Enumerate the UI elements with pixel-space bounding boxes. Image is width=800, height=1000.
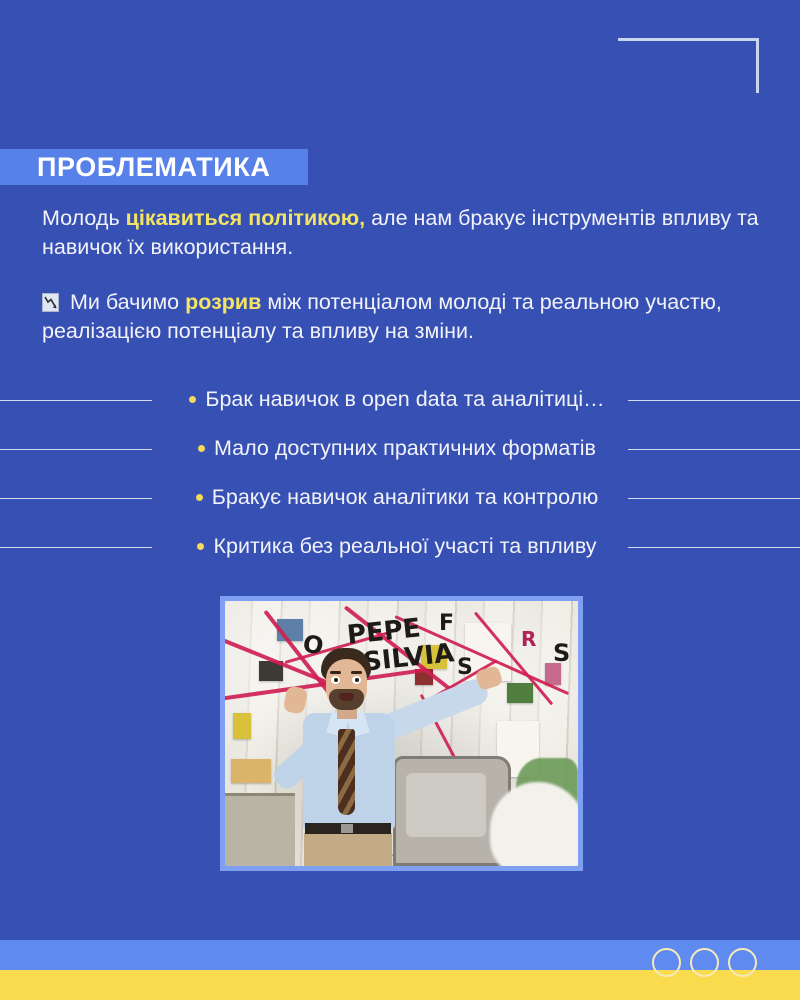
chart-decreasing-icon [42, 293, 59, 312]
bullet-rule-left [0, 400, 152, 402]
bullet-rule-right [628, 400, 800, 402]
footer-ring-icon [652, 948, 681, 977]
wall-scribble: F [439, 613, 454, 635]
footer-ring-icon [690, 948, 719, 977]
bullet-rule-right [628, 449, 800, 451]
bullet-rule-left [0, 498, 152, 500]
paragraph-2-highlight: розрив [185, 290, 261, 314]
footer-ring-group [652, 948, 757, 977]
body-text-block: Молодь цікавиться політикою, але нам бра… [42, 204, 764, 345]
wall-note [233, 713, 251, 739]
wall-scribble: R [521, 629, 536, 649]
paragraph-1-highlight: цікавиться політикою, [126, 206, 365, 230]
corner-bracket-decor [618, 38, 759, 93]
wall-note [231, 759, 271, 783]
paragraph-2: Ми бачимо розрив між потенціалом молоді … [42, 288, 764, 345]
paragraph-1: Молодь цікавиться політикою, але нам бра… [42, 204, 764, 261]
bullet-dot-icon [198, 445, 205, 452]
bullet-rule-left [0, 449, 152, 451]
wall-scribble: O [301, 631, 325, 658]
list-item[interactable]: Критика без реальної участі та впливу [0, 522, 800, 571]
bullet-rule-left [0, 547, 152, 549]
bullet-rule-right [628, 498, 800, 500]
list-item[interactable]: Брак навичок в open data та аналітиці… [0, 375, 800, 424]
wall-note [507, 683, 533, 703]
list-item-label: Критика без реальної участі та впливу [213, 534, 602, 559]
wall-scribble: S [457, 657, 473, 679]
wall-scribble: S [553, 641, 570, 665]
slide-root: ПРОБЛЕМАТИКА Молодь цікавиться політикою… [0, 0, 800, 1000]
list-item-label: Бракує навичок аналітики та контролю [212, 485, 605, 510]
bullet-list: Брак навичок в open data та аналітиці… М… [0, 375, 800, 571]
bullet-rule-right [628, 547, 800, 549]
section-title-banner: ПРОБЛЕМАТИКА [0, 149, 308, 185]
meme-photo: PEPE SILVIA O F S R S [225, 601, 578, 866]
list-item-label: Мало доступних практичних форматів [214, 436, 602, 461]
bullet-dot-icon [197, 543, 204, 550]
desk [225, 793, 295, 866]
bullet-dot-icon [196, 494, 203, 501]
page-title: ПРОБЛЕМАТИКА [37, 152, 270, 183]
list-item[interactable]: Мало доступних практичних форматів [0, 424, 800, 473]
list-item-label: Брак навичок в open data та аналітиці… [205, 387, 610, 412]
bullet-dot-icon [189, 396, 196, 403]
photo-frame: PEPE SILVIA O F S R S [220, 596, 583, 871]
list-item[interactable]: Бракує навичок аналітики та контролю [0, 473, 800, 522]
paragraph-1-seg-1: Молодь [42, 206, 126, 230]
paragraph-2-seg-1: Ми бачимо [64, 290, 185, 314]
footer-ring-icon [728, 948, 757, 977]
